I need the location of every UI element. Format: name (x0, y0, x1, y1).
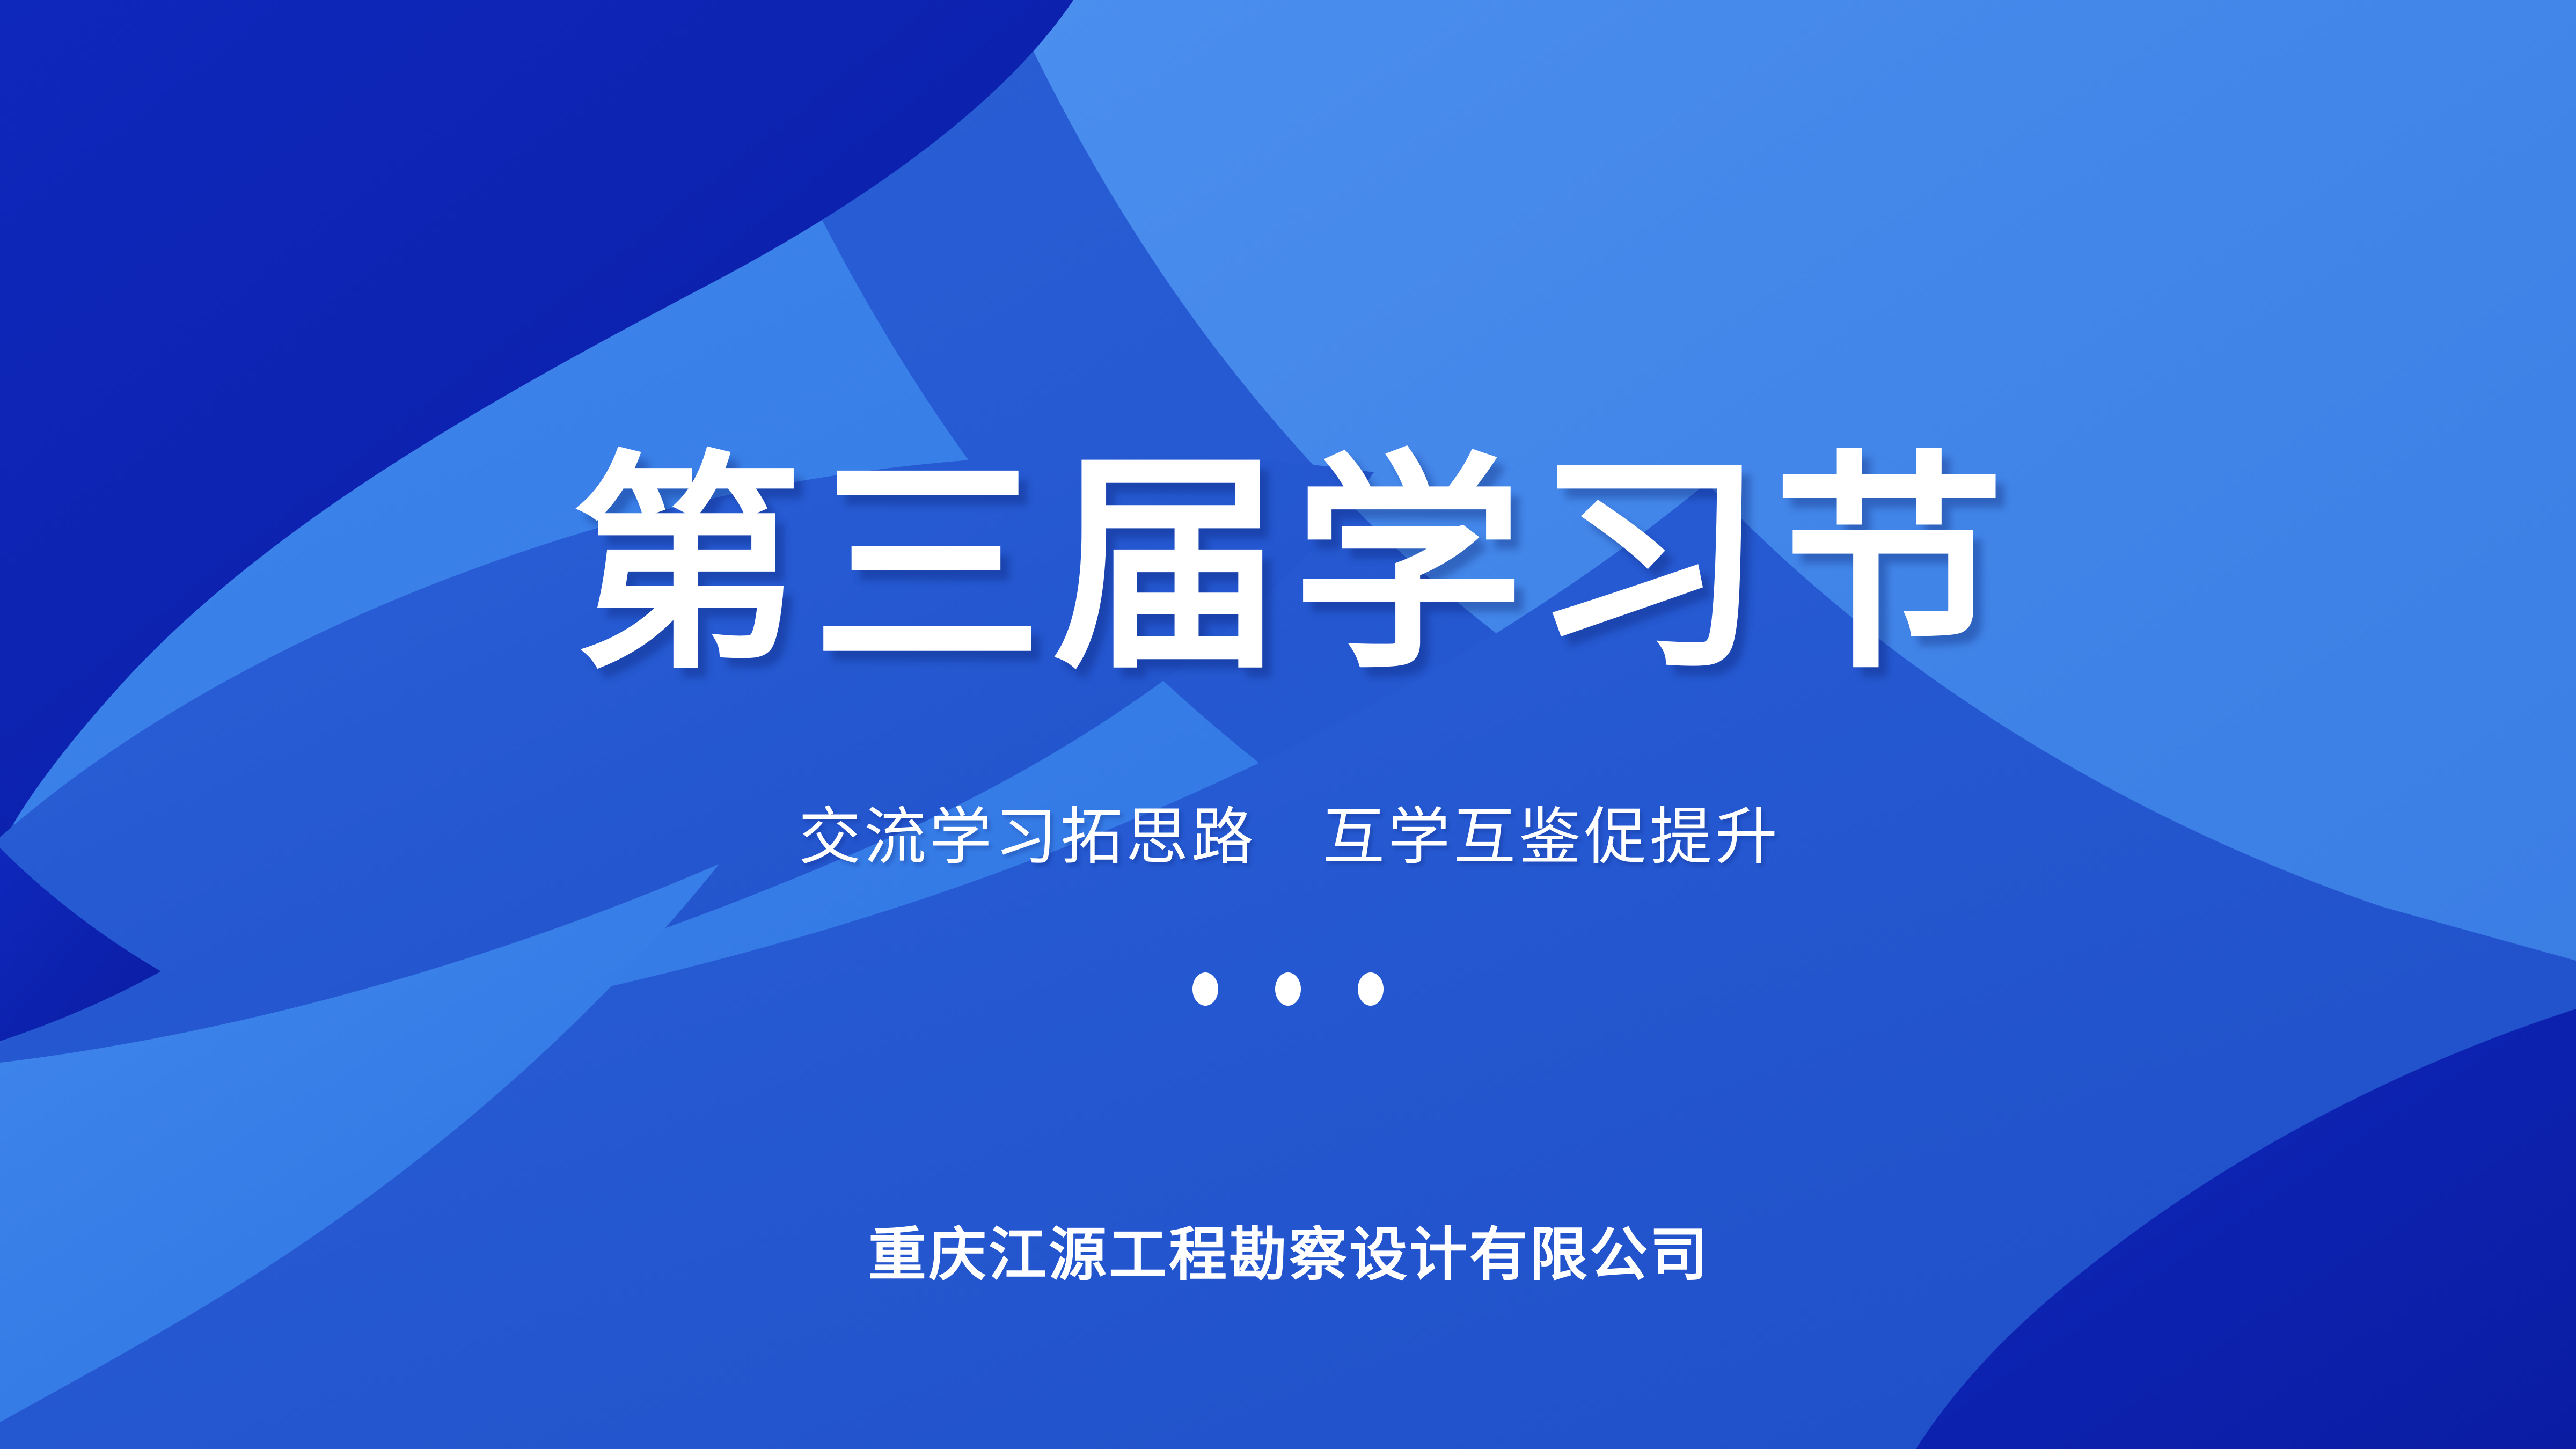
decor-dot-2-icon (1275, 972, 1301, 1006)
decor-dot-3-icon (1358, 972, 1384, 1006)
poster-subtitle: 交流学习拓思路 互学互鉴促提升 (795, 798, 1781, 876)
subtitle-block: 交流学习拓思路 互学互鉴促提升 (0, 798, 2576, 876)
poster-content: 第三届学习节 交流学习拓思路 互学互鉴促提升 重庆江源工程勘察设计有限公司 (0, 0, 2576, 1449)
poster-canvas: 第三届学习节 交流学习拓思路 互学互鉴促提升 重庆江源工程勘察设计有限公司 (0, 0, 2576, 1449)
page-title: 第三届学习节 (562, 451, 2014, 682)
decorative-dots-row (0, 972, 2576, 1006)
title-block: 第三届学习节 (0, 451, 2576, 682)
company-block: 重庆江源工程勘察设计有限公司 (0, 1218, 2576, 1291)
company-name: 重庆江源工程勘察设计有限公司 (866, 1218, 1710, 1291)
decor-dot-1-icon (1192, 972, 1218, 1006)
